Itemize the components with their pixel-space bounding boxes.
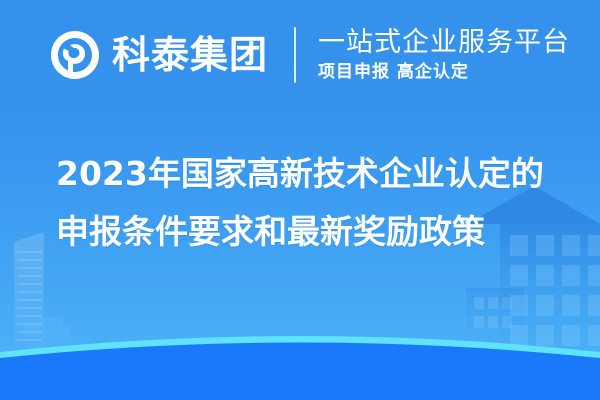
tagline-main: 一站式企业服务平台 — [318, 27, 570, 58]
wave-fill — [0, 343, 600, 400]
page-title-line-1: 2023年国家高新技术企业认定的 — [56, 145, 600, 203]
tagline-sub: 项目申报 高企认定 — [318, 61, 570, 83]
page-title-line-2: 申报条件要求和最新奖励政策 — [56, 203, 600, 261]
brand-name: 科泰集团 — [112, 36, 268, 74]
promo-banner: 科泰集团 一站式企业服务平台 项目申报 高企认定 2023年国家高新技术企业认定… — [0, 0, 600, 400]
header-divider — [294, 27, 296, 83]
banner-header: 科泰集团 一站式企业服务平台 项目申报 高企认定 — [0, 0, 600, 110]
brand-logo[interactable]: 科泰集团 — [48, 28, 268, 82]
wave-edge — [0, 336, 600, 400]
banner-title: 2023年国家高新技术企业认定的 申报条件要求和最新奖励政策 — [0, 145, 600, 261]
header-tagline: 一站式企业服务平台 项目申报 高企认定 — [318, 27, 570, 83]
ketai-logo-icon — [48, 28, 102, 82]
left-lowrise-silhouette — [25, 318, 71, 348]
right-lowrise-silhouette — [466, 288, 524, 350]
